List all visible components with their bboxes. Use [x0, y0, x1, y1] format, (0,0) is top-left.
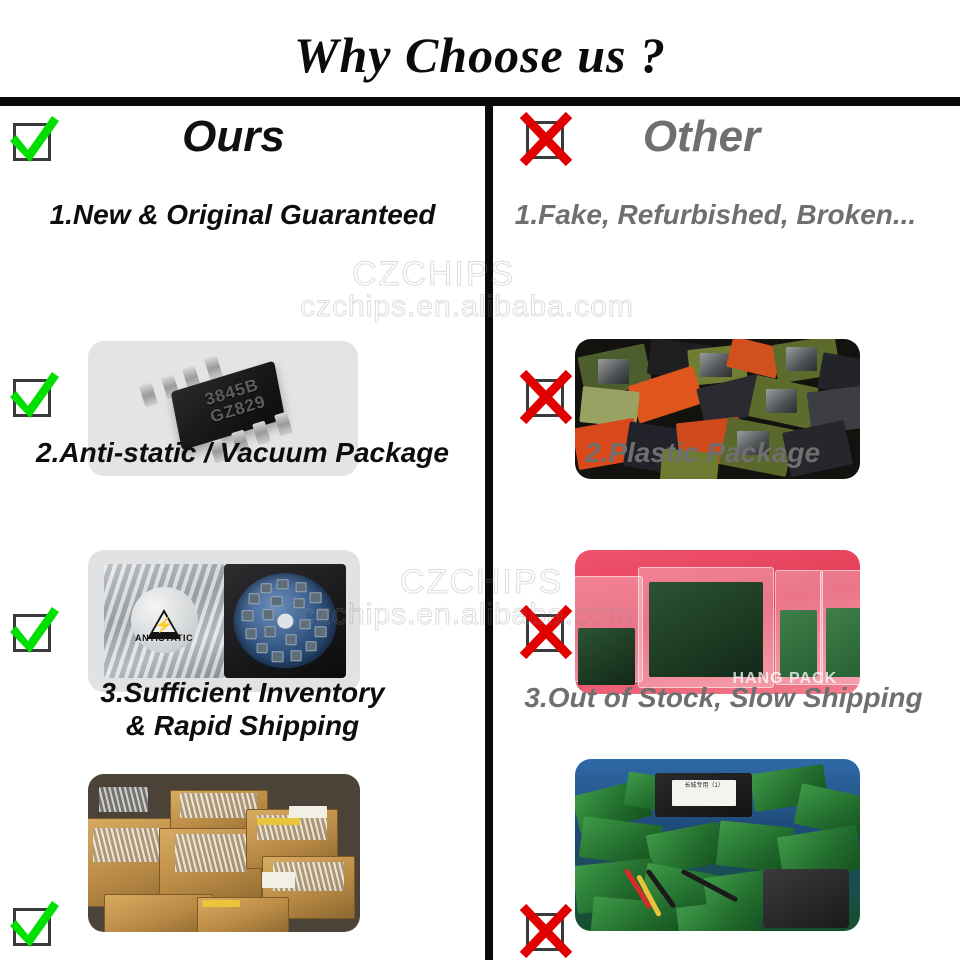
column-ours: Ours 1.New & Original Guaranteed [0, 106, 485, 960]
red-cross-icon [515, 108, 577, 170]
column-other: Other 1.Fake, Refurbished, Broken... [493, 106, 960, 960]
inventory-boxes-photo [88, 774, 360, 932]
pcb-scrap-photo-content: 长城专用（1） [575, 759, 860, 931]
black-pad [763, 869, 849, 927]
feature-label: 3.Sufficient Inventory & Rapid Shipping [0, 676, 485, 742]
feature-label: 1.New & Original Guaranteed [0, 198, 485, 231]
feature-row-other-1: 1.Fake, Refurbished, Broken... [493, 198, 960, 416]
horizontal-divider [0, 97, 960, 106]
antistatic-bag-label-text: ANTISTATIC [131, 633, 198, 643]
antistatic-package-photo: ⚡ ANTISTATIC [88, 550, 360, 692]
page-title: Why Choose us ? [0, 26, 960, 84]
green-check-icon [2, 601, 64, 663]
reel-box [224, 564, 346, 678]
feature-label-line-1: 3.Sufficient Inventory [100, 677, 384, 708]
plastic-package-photo-content: HANG PACK [575, 550, 860, 694]
feature-label: 2.Plastic Package [493, 436, 960, 469]
feature-label: 3.Out of Stock, Slow Shipping [493, 681, 960, 714]
feature-label: 1.Fake, Refurbished, Broken... [493, 198, 960, 231]
feature-row-ours-3: 3.Sufficient Inventory & Rapid Shipping [0, 676, 485, 936]
pcb-scrap-photo: 长城专用（1） [575, 759, 860, 931]
red-cross-icon [515, 900, 577, 960]
black-module: 长城专用（1） [655, 773, 752, 818]
green-check-icon [2, 110, 64, 172]
vertical-divider [485, 106, 493, 960]
plastic-package-photo: HANG PACK [575, 550, 860, 694]
antistatic-photo-content: ⚡ ANTISTATIC [88, 550, 360, 692]
inventory-photo-content [88, 774, 360, 932]
green-check-icon [2, 895, 64, 957]
column-header-ours: Ours [0, 112, 485, 162]
feature-label: 2.Anti-static / Vacuum Package [0, 436, 485, 469]
green-check-icon [2, 366, 64, 428]
why-choose-us-comparison-graphic: Why Choose us ? Ours 1.New & Original Gu… [0, 0, 960, 960]
antistatic-label: ⚡ ANTISTATIC [131, 587, 198, 653]
feature-row-ours-1: 1.New & Original Guaranteed [0, 198, 485, 416]
feature-row-ours-2: 2.Anti-static / Vacuum Package ⚡ ANTISTA… [0, 436, 485, 656]
feature-label-line-2: & Rapid Shipping [126, 710, 359, 741]
component-reel [234, 573, 337, 668]
antistatic-bag: ⚡ ANTISTATIC [104, 564, 224, 678]
feature-row-other-2: 2.Plastic Package [493, 436, 960, 656]
red-cross-icon [515, 366, 577, 428]
feature-row-other-3: 3.Out of Stock, Slow Shipping [493, 681, 960, 936]
module-label: 长城专用（1） [672, 780, 736, 806]
red-cross-icon [515, 601, 577, 663]
